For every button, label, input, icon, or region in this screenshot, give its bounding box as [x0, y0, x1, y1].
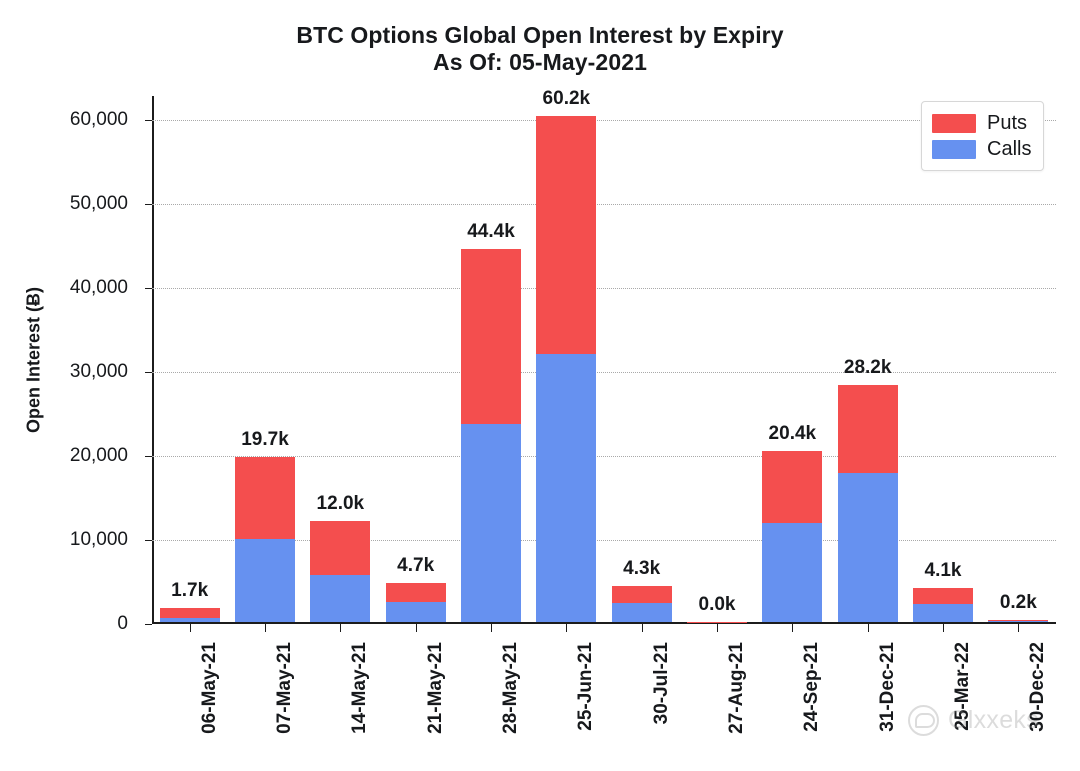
y-axis-tick-label: 50,000	[70, 193, 128, 215]
bar-segment-calls[interactable]	[461, 424, 521, 622]
x-axis-tick-label: 25-Jun-21	[575, 642, 597, 731]
bar-segment-calls[interactable]	[612, 603, 672, 622]
chart-container: BTC Options Global Open Interest by Expi…	[0, 0, 1080, 771]
bar-segment-calls[interactable]	[988, 621, 1048, 622]
bar-segment-calls[interactable]	[762, 523, 822, 622]
x-axis-tick-mark	[868, 624, 869, 632]
x-axis-tick-mark	[190, 624, 191, 632]
y-axis-tick-label: 30,000	[70, 361, 128, 383]
bar-segment-calls[interactable]	[310, 575, 370, 622]
legend-color-swatch	[932, 140, 976, 159]
bar-segment-puts[interactable]	[310, 521, 370, 575]
bar-value-label: 28.2k	[844, 357, 892, 379]
y-axis-tick-mark	[145, 204, 152, 205]
legend-item[interactable]: Puts	[932, 110, 1031, 136]
bar-stack[interactable]	[612, 586, 672, 622]
bar-segment-puts[interactable]	[536, 116, 596, 354]
gridline	[152, 204, 1056, 206]
bar-stack[interactable]	[310, 521, 370, 622]
bar-value-label: 19.7k	[241, 429, 289, 451]
legend-color-swatch	[932, 114, 976, 133]
bar-stack[interactable]	[913, 588, 973, 622]
y-axis-tick-mark	[145, 120, 152, 121]
chart-title: BTC Options Global Open Interest by Expi…	[0, 22, 1080, 49]
bar-value-label: 4.3k	[623, 558, 660, 580]
bar-segment-calls[interactable]	[160, 618, 220, 622]
y-axis-tick-mark	[145, 540, 152, 541]
gridline	[152, 372, 1056, 374]
x-axis-tick-mark	[1018, 624, 1019, 632]
bar-value-label: 60.2k	[543, 88, 591, 110]
x-axis-tick-label: 30-Dec-22	[1027, 642, 1049, 732]
bar-segment-puts[interactable]	[838, 385, 898, 473]
y-axis-line	[152, 96, 154, 624]
x-axis-tick-label: 27-Aug-21	[726, 642, 748, 734]
y-axis-tick-labels: 010,00020,00030,00040,00050,00060,000	[0, 96, 140, 624]
x-axis-line	[152, 622, 1056, 624]
bar-stack[interactable]	[461, 249, 521, 622]
y-axis-tick-mark	[145, 372, 152, 373]
legend-item[interactable]: Calls	[932, 136, 1031, 162]
x-axis-tick-label: 14-May-21	[349, 642, 371, 734]
x-axis-tick-label: 07-May-21	[274, 642, 296, 734]
chart-legend[interactable]: PutsCalls	[921, 101, 1044, 171]
bar-segment-puts[interactable]	[913, 588, 973, 605]
bar-segment-puts[interactable]	[461, 249, 521, 424]
bar-value-label: 4.1k	[925, 560, 962, 582]
bar-value-label: 20.4k	[769, 423, 817, 445]
x-axis-tick-mark	[416, 624, 417, 632]
bar-segment-calls[interactable]	[913, 604, 973, 622]
bar-value-label: 44.4k	[467, 221, 515, 243]
x-axis-tick-label: 28-May-21	[500, 642, 522, 734]
legend-label: Puts	[987, 112, 1027, 135]
x-axis-tick-mark	[642, 624, 643, 632]
y-axis-tick-label: 0	[117, 613, 128, 635]
bar-value-label: 12.0k	[317, 493, 365, 515]
bar-segment-calls[interactable]	[386, 602, 446, 622]
y-axis-tick-label: 20,000	[70, 445, 128, 467]
x-axis-tick-mark	[943, 624, 944, 632]
bar-value-label: 1.7k	[171, 580, 208, 602]
speech-bubble-icon	[908, 705, 939, 736]
chart-title-block: BTC Options Global Open Interest by Expi…	[0, 22, 1080, 76]
bar-segment-calls[interactable]	[235, 539, 295, 622]
bar-value-label: 4.7k	[397, 555, 434, 577]
legend-label: Calls	[987, 138, 1031, 161]
x-axis-tick-label: 31-Dec-21	[877, 642, 899, 732]
bar-stack[interactable]	[762, 451, 822, 622]
bar-stack[interactable]	[235, 457, 295, 622]
gridline	[152, 288, 1056, 290]
bar-stack[interactable]	[536, 116, 596, 622]
x-axis-tick-label: 06-May-21	[199, 642, 221, 734]
bar-stack[interactable]	[386, 583, 446, 622]
x-axis-tick-label: 25-Mar-22	[952, 642, 974, 731]
bar-stack[interactable]	[988, 620, 1048, 622]
y-axis-tick-label: 60,000	[70, 109, 128, 131]
x-axis-tick-mark	[491, 624, 492, 632]
bar-segment-puts[interactable]	[386, 583, 446, 602]
x-axis-tick-label: 21-May-21	[425, 642, 447, 734]
bar-value-label: 0.0k	[699, 594, 736, 616]
bar-value-label: 0.2k	[1000, 592, 1037, 614]
x-axis-tick-mark	[566, 624, 567, 632]
bar-segment-puts[interactable]	[762, 451, 822, 523]
plot-area: 1.7k19.7k12.0k4.7k44.4k60.2k4.3k0.0k20.4…	[152, 96, 1056, 624]
bar-segment-calls[interactable]	[838, 473, 898, 622]
x-axis-tick-label: 24-Sep-21	[801, 642, 823, 732]
x-axis-tick-mark	[717, 624, 718, 632]
bar-stack[interactable]	[838, 385, 898, 622]
bar-stack[interactable]	[160, 608, 220, 622]
bar-segment-puts[interactable]	[160, 608, 220, 618]
bar-segment-calls[interactable]	[536, 354, 596, 622]
y-axis-tick-label: 10,000	[70, 529, 128, 551]
y-axis-tick-mark	[145, 456, 152, 457]
y-axis-tick-mark	[145, 624, 152, 625]
y-axis-tick-mark	[145, 288, 152, 289]
x-axis-tick-mark	[340, 624, 341, 632]
x-axis-tick-mark	[265, 624, 266, 632]
x-axis-tick-label: 30-Jul-21	[651, 642, 673, 724]
chart-subtitle: As Of: 05-May-2021	[0, 49, 1080, 76]
x-axis-tick-mark	[792, 624, 793, 632]
bar-segment-puts[interactable]	[612, 586, 672, 603]
y-axis-tick-label: 40,000	[70, 277, 128, 299]
bar-segment-puts[interactable]	[235, 457, 295, 539]
